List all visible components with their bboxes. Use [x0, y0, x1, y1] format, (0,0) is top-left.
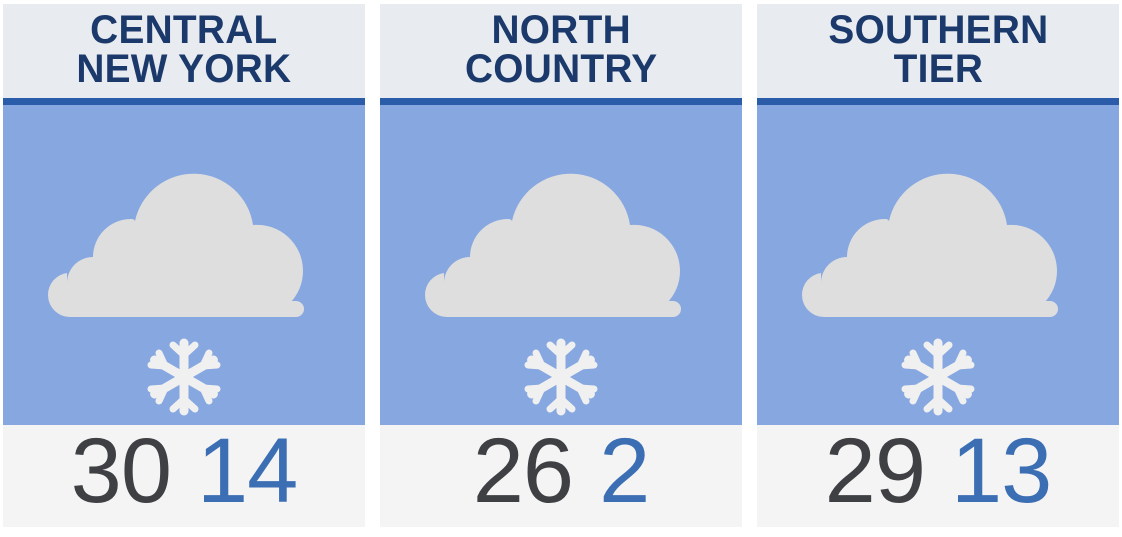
- cloud-with-snowflake-icon: [380, 105, 742, 425]
- region-name: SOUTHERN TIER: [828, 11, 1048, 89]
- temperature-row: 26 2: [380, 425, 742, 527]
- condition-icon-area: [3, 105, 365, 425]
- forecast-panel: CENTRAL NEW YORK: [3, 4, 365, 527]
- region-name: CENTRAL NEW YORK: [76, 11, 291, 89]
- temperature-row: 29 13: [757, 425, 1119, 527]
- temp-high: 26: [473, 425, 573, 517]
- panel-header: NORTH COUNTRY: [380, 4, 742, 98]
- temp-low: 13: [951, 425, 1051, 517]
- temp-low: 2: [599, 425, 649, 517]
- header-divider: [380, 98, 742, 105]
- temperature-row: 30 14: [3, 425, 365, 527]
- panel-header: CENTRAL NEW YORK: [3, 4, 365, 98]
- temp-high: 29: [825, 425, 925, 517]
- cloud-icon: [48, 174, 304, 317]
- temp-low: 14: [197, 425, 297, 517]
- region-name: NORTH COUNTRY: [465, 11, 657, 89]
- cloud-icon: [802, 174, 1058, 317]
- snowflake-icon: [151, 343, 217, 411]
- condition-icon-area: [380, 105, 742, 425]
- cloud-with-snowflake-icon: [757, 105, 1119, 425]
- panel-header: SOUTHERN TIER: [757, 4, 1119, 98]
- snowflake-icon: [905, 343, 971, 411]
- forecast-strip: CENTRAL NEW YORK: [0, 0, 1122, 537]
- header-divider: [3, 98, 365, 105]
- snowflake-icon: [528, 343, 594, 411]
- temp-high: 30: [71, 425, 171, 517]
- forecast-panel: NORTH COUNTRY: [380, 4, 742, 527]
- cloud-with-snowflake-icon: [3, 105, 365, 425]
- condition-icon-area: [757, 105, 1119, 425]
- forecast-panel: SOUTHERN TIER: [757, 4, 1119, 527]
- header-divider: [757, 98, 1119, 105]
- cloud-icon: [425, 174, 681, 317]
